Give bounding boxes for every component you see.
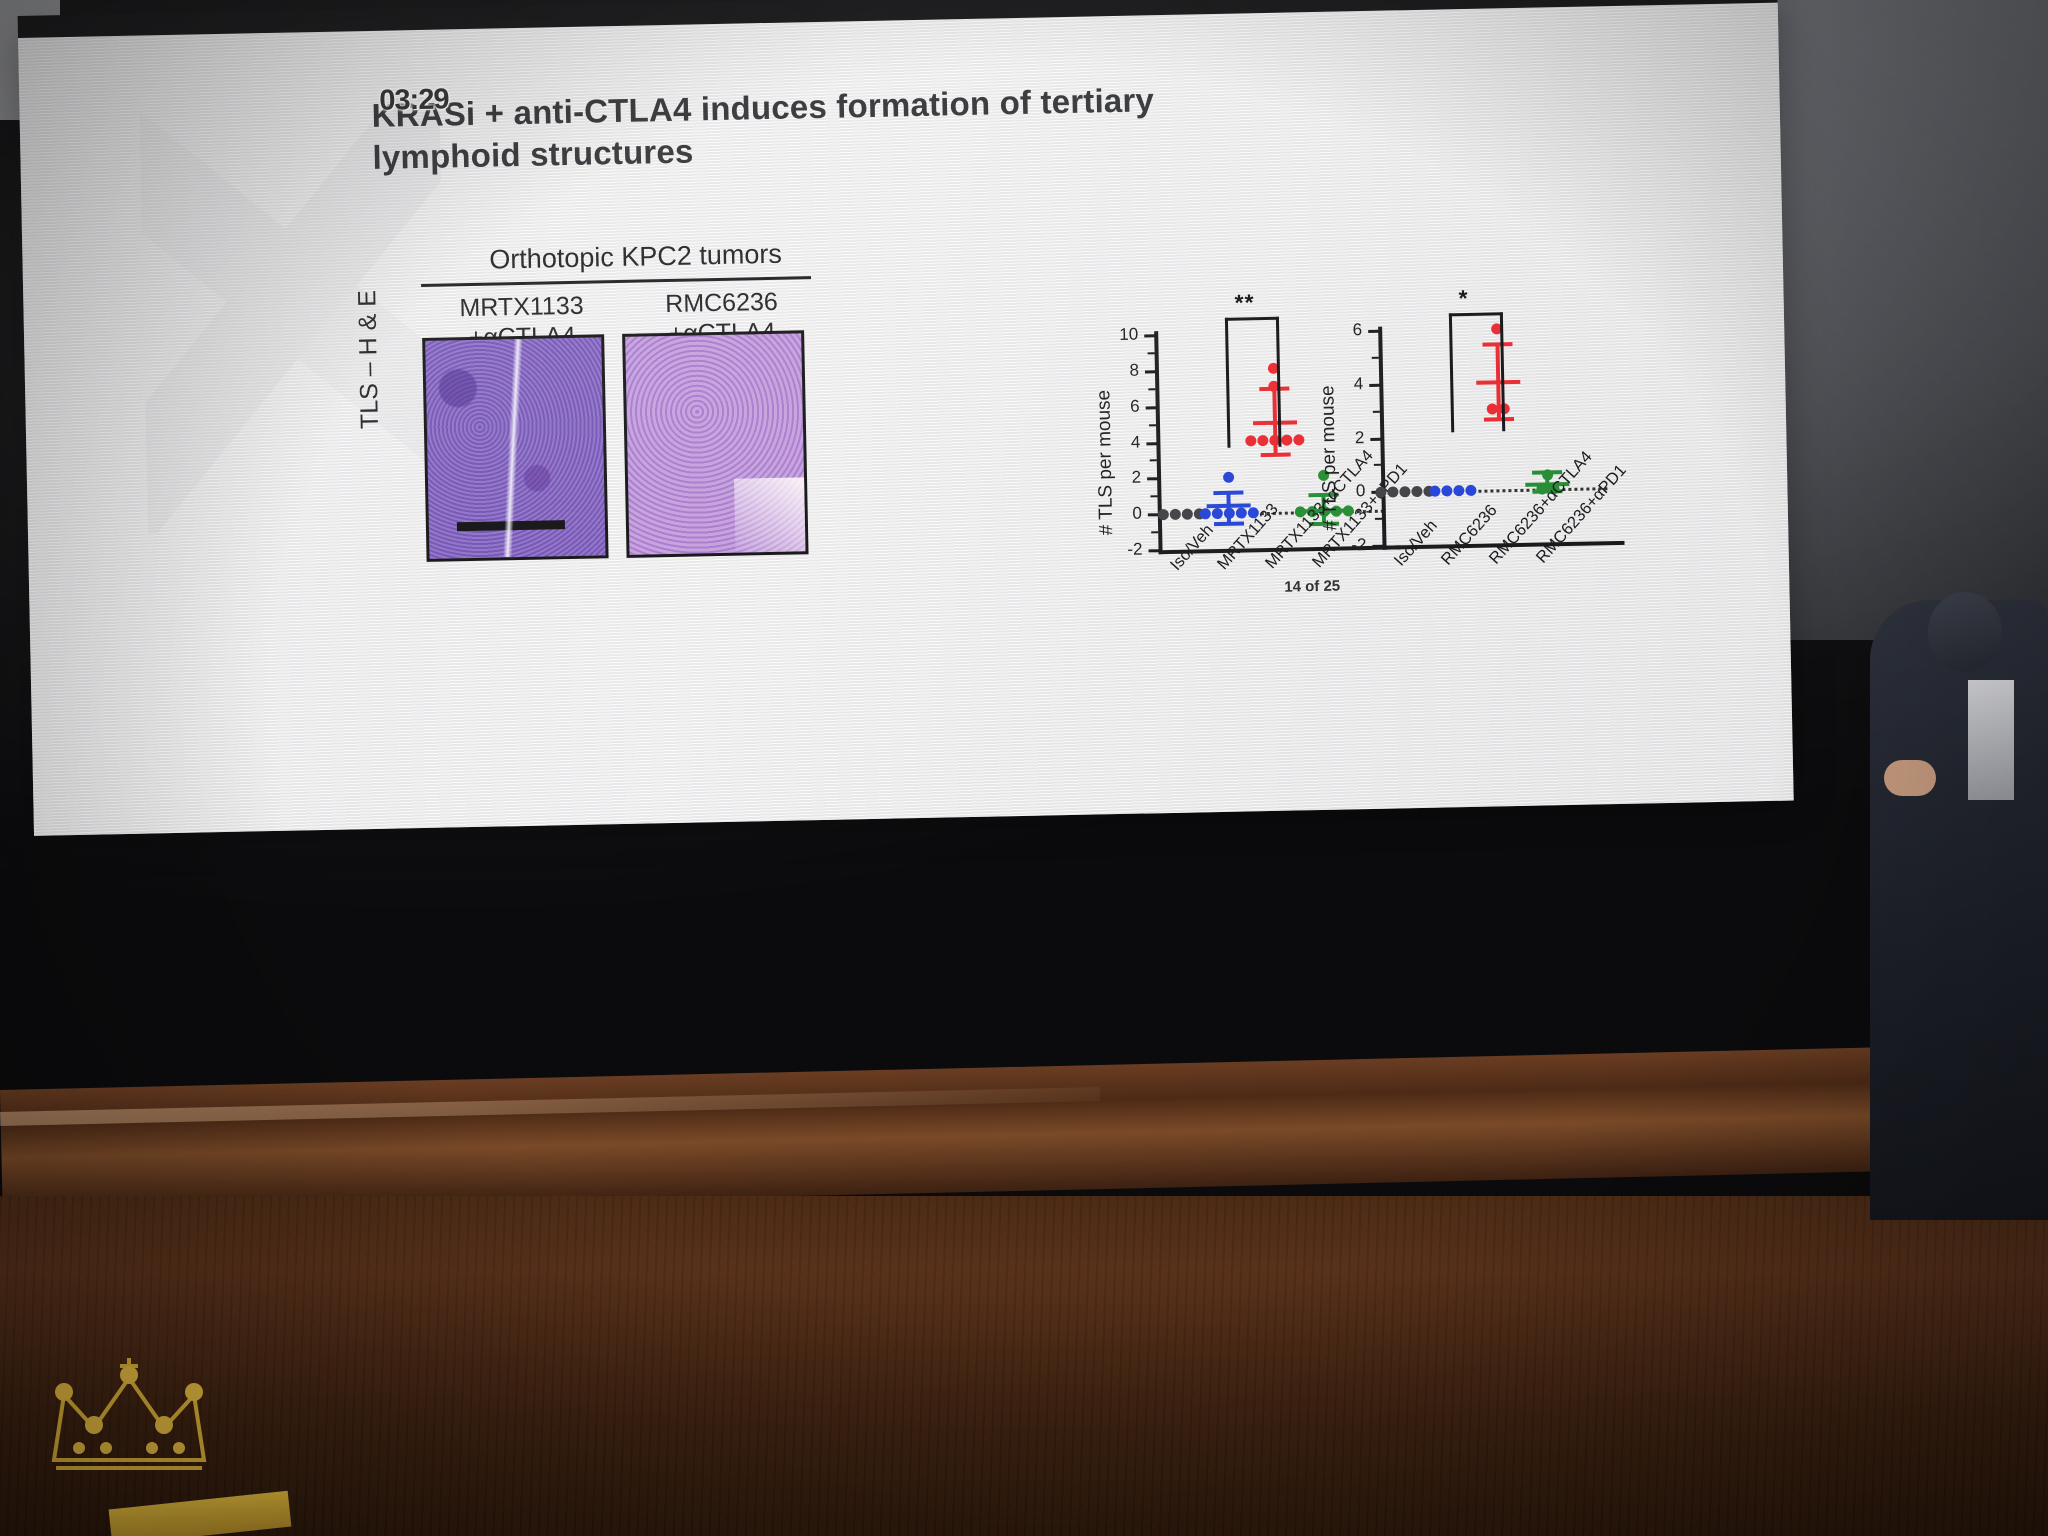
micrograph-image-rmc6236 <box>622 330 808 558</box>
y-axis-title: # TLS per mouse <box>1093 390 1118 536</box>
data-point <box>1223 507 1234 518</box>
crown-emblem-icon <box>34 1340 224 1500</box>
micrograph-label-left-line1: MRTX1133 <box>423 290 620 324</box>
y-axis-minor-tick <box>1373 410 1380 412</box>
data-point <box>1235 507 1246 518</box>
y-axis-minor-tick <box>1150 495 1157 497</box>
x-axis-tick-label: Iso/Veh <box>1167 521 1218 575</box>
y-axis-title: # TLS per mouse <box>1317 385 1342 531</box>
title-krasi-token: KRASi03:29 <box>371 93 476 137</box>
y-axis-minor-tick <box>1149 424 1156 426</box>
y-axis-major-tick <box>1146 442 1157 445</box>
y-axis-major-tick <box>1145 370 1156 373</box>
data-point <box>1465 485 1476 496</box>
y-axis-tick-label: 8 <box>1105 360 1139 381</box>
title-line1-rest: + anti-CTLA4 induces formation of tertia… <box>475 81 1154 132</box>
chart-rmc6236-tls: -20246# TLS per mouse*Iso/VehRMC6236RMC6… <box>1304 292 1610 598</box>
title-line2: lymphoid structures <box>372 132 694 175</box>
y-axis-tick-label: -2 <box>1332 535 1366 556</box>
data-point <box>1211 508 1222 519</box>
significance-label: * <box>1458 285 1468 312</box>
data-point <box>1388 486 1399 497</box>
presentation-timer-overlay: 03:29 <box>379 81 449 119</box>
data-point <box>1170 508 1181 519</box>
presenter-silhouette <box>1870 600 2048 1220</box>
x-axis-tick-label: Iso/Veh <box>1390 517 1441 571</box>
y-axis-minor-tick <box>1150 460 1157 462</box>
presenter-head <box>1928 592 2002 672</box>
significance-bracket <box>1225 317 1281 448</box>
data-point <box>1412 486 1423 497</box>
data-point <box>1441 485 1452 496</box>
y-axis-tick-label: -2 <box>1108 540 1142 561</box>
y-axis-major-tick <box>1372 545 1383 548</box>
data-point <box>1400 486 1411 497</box>
significance-bracket <box>1449 312 1505 432</box>
data-point <box>1294 434 1305 445</box>
slide-page-indicator: 14 of 25 <box>1284 578 1340 596</box>
data-point <box>1453 485 1464 496</box>
micrograph-image-mrtx1133 <box>422 334 608 562</box>
y-axis-minor-tick <box>1148 388 1155 390</box>
y-axis-major-tick <box>1369 383 1380 386</box>
y-axis-major-tick <box>1147 478 1158 481</box>
y-axis-major-tick <box>1368 330 1379 333</box>
scale-bar <box>457 520 565 531</box>
presenter-hand <box>1884 760 1936 796</box>
data-point <box>1223 472 1234 483</box>
y-axis-major-tick <box>1144 334 1155 337</box>
desk-wood-grain <box>0 1196 2048 1536</box>
desk-surface <box>0 1044 2048 1214</box>
y-axis-minor-tick <box>1151 531 1158 533</box>
significance-label: ** <box>1234 289 1254 316</box>
data-point <box>1158 509 1169 520</box>
y-axis-minor-tick <box>1374 464 1381 466</box>
y-axis-minor-tick <box>1372 357 1379 359</box>
histology-axis-label: TLS – H & E <box>353 290 385 430</box>
photo-of-conference-slide: KRASi03:29 + anti-CTLA4 induces formatio… <box>0 0 2048 1536</box>
data-point <box>1199 508 1210 519</box>
error-bar-cap-lower <box>1214 521 1244 526</box>
micrograph-label-right-line1: RMC6236 <box>623 286 820 320</box>
data-point <box>1542 470 1553 481</box>
y-axis-major-tick <box>1146 406 1157 409</box>
panel-header-rule <box>421 276 811 287</box>
y-axis-minor-tick <box>1148 352 1155 354</box>
panel-header: Orthotopic KPC2 tumors <box>454 238 817 276</box>
y-axis-major-tick <box>1149 549 1160 552</box>
y-axis-major-tick <box>1370 437 1381 440</box>
error-bar-cap-upper <box>1214 491 1244 496</box>
data-point <box>1182 508 1193 519</box>
data-point <box>1282 435 1293 446</box>
y-axis-tick-label: 10 <box>1104 325 1138 346</box>
y-axis-tick-label: 6 <box>1328 320 1362 341</box>
slide-title: KRASi03:29 + anti-CTLA4 induces formatio… <box>371 78 1212 178</box>
y-axis-minor-tick <box>1375 518 1382 520</box>
presenter-shirt <box>1968 680 2014 800</box>
error-bar-cap-lower <box>1260 452 1290 457</box>
projection-screen: KRASi03:29 + anti-CTLA4 induces formatio… <box>18 1 1794 836</box>
data-point <box>1429 485 1440 496</box>
